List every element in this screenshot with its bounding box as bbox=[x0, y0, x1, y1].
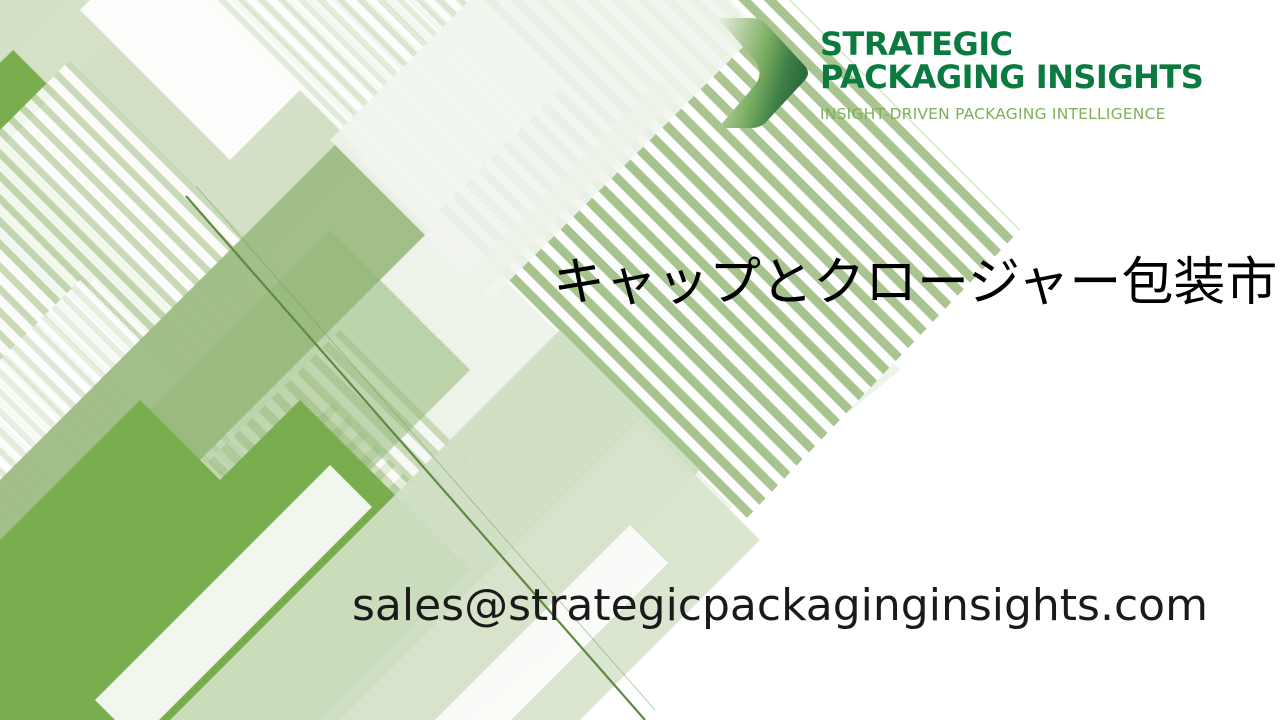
logo-tagline: INSIGHT-DRIVEN PACKAGING INTELLIGENCE bbox=[820, 105, 1222, 123]
slide-title: キャップとクロージャー包装市 bbox=[553, 252, 1280, 314]
contact-email[interactable]: sales@strategicpackaginginsights.com bbox=[352, 579, 1208, 633]
company-logo: STRATEGIC PACKAGING INSIGHTS INSIGHT-DRI… bbox=[712, 14, 1222, 142]
logo-name-line-2: PACKAGING INSIGHTS bbox=[820, 61, 1222, 94]
chevron-right-mark-icon bbox=[712, 14, 812, 132]
logo-text-block: STRATEGIC PACKAGING INSIGHTS INSIGHT-DRI… bbox=[820, 14, 1222, 123]
logo-name-line-1: STRATEGIC bbox=[820, 28, 1222, 61]
presentation-slide: STRATEGIC PACKAGING INSIGHTS INSIGHT-DRI… bbox=[0, 0, 1280, 720]
